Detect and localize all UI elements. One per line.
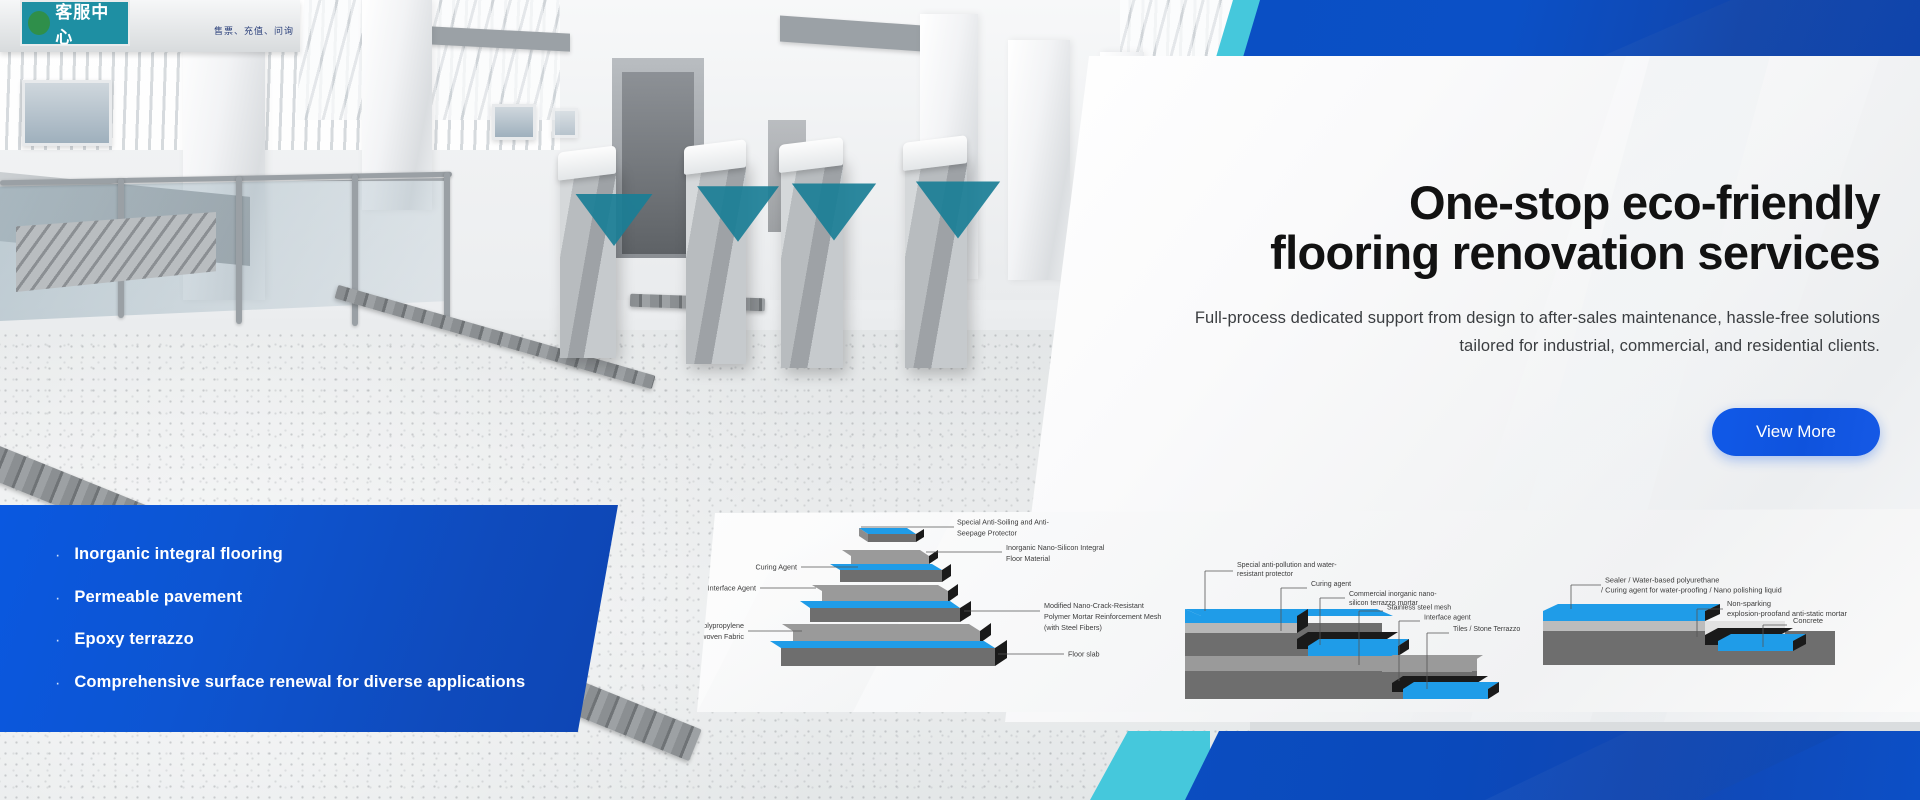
hero-subtitle: Full-process dedicated support from desi… xyxy=(1080,304,1880,361)
ad-poster-2 xyxy=(492,104,536,140)
handrail-post-4 xyxy=(444,172,450,324)
svg-text:Stainless steel mesh: Stainless steel mesh xyxy=(1387,605,1451,612)
view-more-button[interactable]: View More xyxy=(1712,408,1880,456)
svg-text:Interface agent: Interface agent xyxy=(1424,615,1471,622)
feature-label: Comprehensive surface renewal for divers… xyxy=(74,674,525,691)
svg-text:Special Anti-Soiling and Anti-: Special Anti-Soiling and Anti- xyxy=(957,518,1050,527)
svg-text:Curing agent: Curing agent xyxy=(1311,581,1351,588)
svg-text:Sealer / Water-based polyureth: Sealer / Water-based polyurethane xyxy=(1605,576,1719,585)
page-title: One-stop eco-friendly flooring renovatio… xyxy=(1080,178,1880,278)
sign-text: 客服中心 xyxy=(55,0,122,48)
hero-subtitle-line-2: tailored for industrial, commercial, and… xyxy=(1459,337,1880,355)
step-2 xyxy=(1297,632,1409,656)
list-item[interactable]: · Permeable pavement xyxy=(55,589,575,607)
svg-text:Interface Agent: Interface Agent xyxy=(708,584,756,593)
svg-text:Concrete: Concrete xyxy=(1793,616,1823,625)
svg-text:Floor slab: Floor slab xyxy=(1068,650,1100,659)
signage-bar: 客服中心 售票、充值、问询 xyxy=(0,0,300,52)
list-item[interactable]: · Inorganic integral flooring xyxy=(55,546,575,564)
svg-text:Inorganic Nano-Silicon Integra: Inorganic Nano-Silicon Integral xyxy=(1006,543,1105,552)
bullet-icon: · xyxy=(55,632,60,649)
list-item[interactable]: · Comprehensive surface renewal for dive… xyxy=(55,674,575,692)
svg-text:(with Steel Fibers): (with Steel Fibers) xyxy=(1044,623,1102,632)
feature-list: · Inorganic integral flooring · Permeabl… xyxy=(55,546,575,716)
blue-band-bottom xyxy=(1185,731,1920,800)
slab-4 xyxy=(812,584,958,602)
bullet-icon: · xyxy=(55,590,60,607)
svg-text:Special anti-pollution and wat: Special anti-pollution and water- xyxy=(1237,562,1337,569)
list-item[interactable]: · Epoxy terrazzo xyxy=(55,631,575,649)
ad-poster-3 xyxy=(552,108,578,138)
hero-banner: 客服中心 售票、充值、问询 xyxy=(0,0,1920,800)
diagram-1-layers xyxy=(770,528,1007,666)
bullet-icon: · xyxy=(55,547,60,564)
svg-text:Commercial inorganic nano-: Commercial inorganic nano- xyxy=(1349,591,1437,598)
slab-1-floor-slab xyxy=(770,640,1007,666)
customer-service-sign: 客服中心 xyxy=(20,0,130,46)
svg-text:Modified Nano-Crack-Resistant: Modified Nano-Crack-Resistant xyxy=(1044,601,1144,610)
svg-text:Floor Material: Floor Material xyxy=(1006,554,1050,563)
ad-poster-1 xyxy=(22,80,112,146)
gate-fan-graphic-3 xyxy=(792,183,876,240)
bullet-icon: · xyxy=(55,675,60,692)
slab-6 xyxy=(842,550,938,564)
handrail-post-2 xyxy=(236,176,242,324)
svg-text:Nonwoven Fabric: Nonwoven Fabric xyxy=(702,632,744,641)
diagram-anti-static-mortar-system: Sealer / Water-based polyurethane / Curi… xyxy=(1535,569,1895,712)
service-logo-icon xyxy=(28,11,50,35)
page-title-line-1: One-stop eco-friendly xyxy=(1409,176,1880,229)
slab-3 xyxy=(800,601,971,622)
sign-subtext: 售票、充值、问询 xyxy=(214,24,294,37)
svg-text:Seepage Protector: Seepage Protector xyxy=(957,529,1018,538)
layer-diagram-card: Special Anti-Soiling and Anti- Seepage P… xyxy=(697,509,1920,712)
svg-text:Polypropylene: Polypropylene xyxy=(702,621,744,630)
svg-text:Tiles / Stone Terrazzo: Tiles / Stone Terrazzo xyxy=(1453,626,1520,633)
slab-sealer xyxy=(1543,604,1720,621)
gate-fan-graphic-1 xyxy=(576,194,653,246)
gate-fan-graphic-4 xyxy=(916,181,1000,238)
svg-text:Non-sparking: Non-sparking xyxy=(1727,599,1771,608)
cta-container: View More xyxy=(1080,408,1880,456)
svg-text:resistant protector: resistant protector xyxy=(1237,571,1294,578)
feature-label: Permeable pavement xyxy=(74,589,242,606)
svg-text:Polymer Mortar Reinforcement M: Polymer Mortar Reinforcement Mesh xyxy=(1044,612,1161,621)
step-4 xyxy=(1392,676,1499,699)
hero-copy: One-stop eco-friendly flooring renovatio… xyxy=(1080,178,1880,360)
step-3 xyxy=(1382,655,1483,672)
column-2 xyxy=(362,0,432,210)
feature-label: Inorganic integral flooring xyxy=(74,546,282,563)
slab-7 xyxy=(859,528,924,542)
column-3 xyxy=(1008,40,1070,280)
diagram-2-layers xyxy=(1185,609,1499,699)
slab-2 xyxy=(782,623,991,643)
diagram-inorganic-nano-silicon-integral-floor: Special Anti-Soiling and Anti- Seepage P… xyxy=(702,509,1202,712)
svg-text:/ Curing agent for water-proof: / Curing agent for water-proofing / Nano… xyxy=(1601,586,1782,595)
feature-label: Epoxy terrazzo xyxy=(74,631,193,648)
gate-fan-graphic-2 xyxy=(697,186,779,241)
page-title-line-2: flooring renovation services xyxy=(1270,226,1880,279)
hero-subtitle-line-1: Full-process dedicated support from desi… xyxy=(1195,309,1880,327)
svg-text:explosion-proofand anti-static: explosion-proofand anti-static mortar xyxy=(1727,609,1847,618)
diagram-commercial-terrazzo-system: Special anti-pollution and water- resist… xyxy=(1177,553,1537,712)
svg-text:Curing Agent: Curing Agent xyxy=(755,563,797,572)
